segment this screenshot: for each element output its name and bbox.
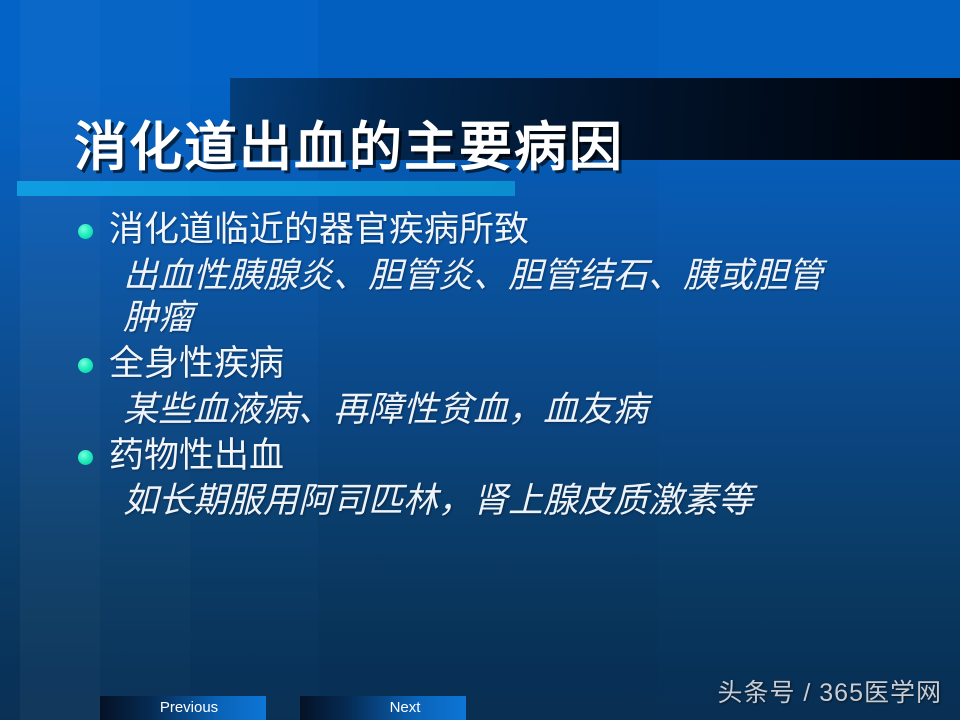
- bullet-dot-icon: [78, 450, 93, 465]
- bullet-heading-row: 药物性出血: [78, 434, 938, 479]
- previous-button-label: Previous: [106, 696, 272, 720]
- bullet-detail: 如长期服用阿司匹林，肾上腺皮质激素等: [123, 480, 873, 523]
- bullet-detail: 某些血液病、再障性贫血，血友病: [123, 389, 938, 432]
- title-accent-bar: [17, 181, 515, 196]
- previous-button[interactable]: Previous: [100, 696, 266, 720]
- bullet-item: 药物性出血 如长期服用阿司匹林，肾上腺皮质激素等: [78, 434, 938, 523]
- slide-title: 消化道出血的主要病因: [74, 119, 624, 177]
- bullet-item: 全身性疾病 某些血液病、再障性贫血，血友病: [78, 342, 938, 431]
- bullet-heading-row: 全身性疾病: [78, 342, 938, 387]
- slide-navigation-bar: Previous Next: [0, 696, 960, 720]
- next-button[interactable]: Next: [300, 696, 466, 720]
- bullet-item: 消化道临近的器官疾病所致 出血性胰腺炎、胆管炎、胆管结石、胰或胆管肿瘤: [78, 208, 938, 340]
- bullet-dot-icon: [78, 358, 93, 373]
- bullet-detail: 出血性胰腺炎、胆管炎、胆管结石、胰或胆管肿瘤: [123, 255, 843, 340]
- slide-body: 消化道临近的器官疾病所致 出血性胰腺炎、胆管炎、胆管结石、胰或胆管肿瘤 全身性疾…: [78, 208, 938, 525]
- bullet-heading: 药物性出血: [109, 434, 284, 479]
- bullet-heading: 消化道临近的器官疾病所致: [109, 208, 529, 253]
- next-button-label: Next: [322, 696, 488, 720]
- bullet-heading: 全身性疾病: [109, 342, 284, 387]
- bullet-dot-icon: [78, 224, 93, 239]
- bullet-heading-row: 消化道临近的器官疾病所致: [78, 208, 938, 253]
- presentation-slide: 消化道出血的主要病因 消化道临近的器官疾病所致 出血性胰腺炎、胆管炎、胆管结石、…: [0, 0, 960, 720]
